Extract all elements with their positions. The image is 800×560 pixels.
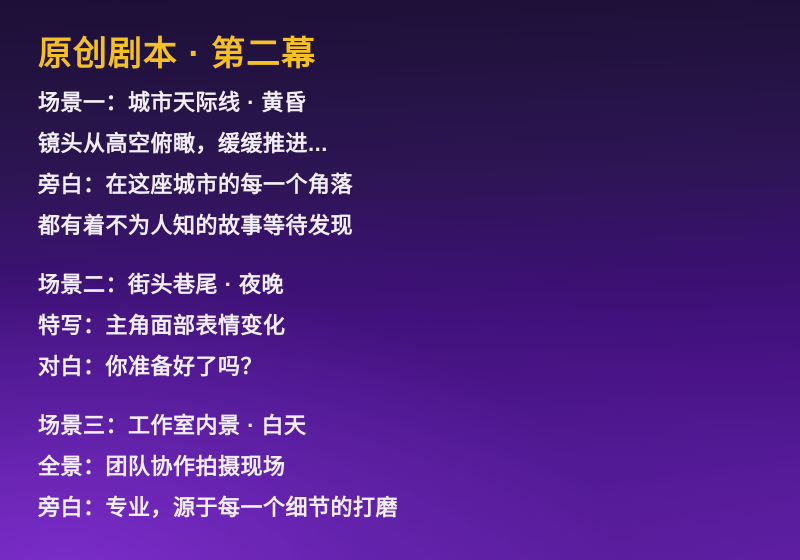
script-line: 全景：团队协作拍摄现场 (38, 446, 780, 487)
script-line: 特写：主角面部表情变化 (38, 305, 780, 346)
page-title: 原创剧本 · 第二幕 (38, 30, 780, 78)
scene-heading: 场景三：工作室内景 · 白天 (38, 405, 780, 446)
scene-block: 场景二：街头巷尾 · 夜晚 特写：主角面部表情变化 对白：你准备好了吗？ (38, 264, 780, 387)
script-line: 都有着不为人知的故事等待发现 (38, 205, 780, 246)
script-line: 对白：你准备好了吗？ (38, 346, 780, 387)
script-slide: 原创剧本 · 第二幕 场景一：城市天际线 · 黄昏 镜头从高空俯瞰，缓缓推进..… (0, 0, 800, 560)
script-content: 原创剧本 · 第二幕 场景一：城市天际线 · 黄昏 镜头从高空俯瞰，缓缓推进..… (38, 30, 780, 528)
script-line: 镜头从高空俯瞰，缓缓推进... (38, 123, 780, 164)
script-line: 旁白：专业，源于每一个细节的打磨 (38, 487, 780, 528)
scene-block: 场景三：工作室内景 · 白天 全景：团队协作拍摄现场 旁白：专业，源于每一个细节… (38, 405, 780, 528)
scene-block: 场景一：城市天际线 · 黄昏 镜头从高空俯瞰，缓缓推进... 旁白：在这座城市的… (38, 82, 780, 246)
scene-heading: 场景一：城市天际线 · 黄昏 (38, 82, 780, 123)
script-line: 旁白：在这座城市的每一个角落 (38, 164, 780, 205)
scene-heading: 场景二：街头巷尾 · 夜晚 (38, 264, 780, 305)
